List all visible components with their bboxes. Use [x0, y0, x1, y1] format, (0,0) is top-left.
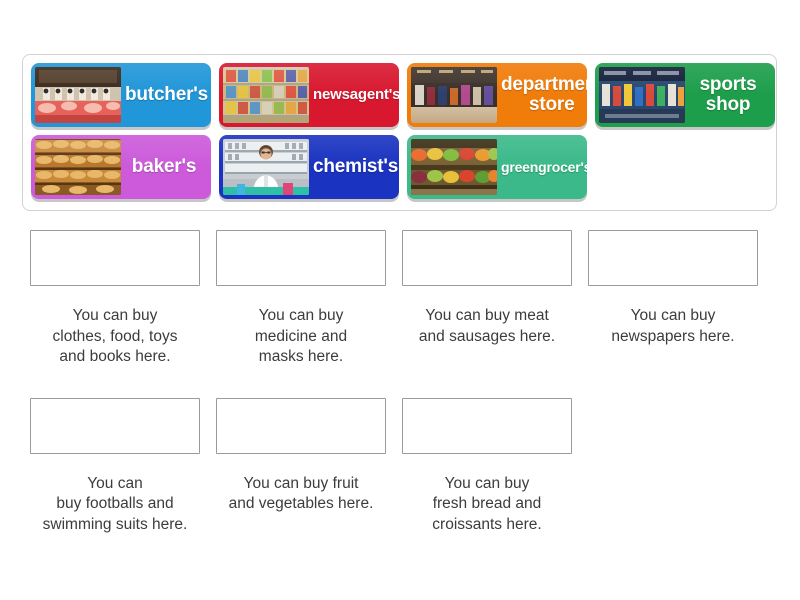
zone-caption: You can buy meat and sausages here. — [396, 306, 578, 347]
tile-label: chemist's — [309, 157, 399, 177]
zone-empty-slot — [580, 398, 766, 536]
draggable-tiles-panel: butcher's — [22, 54, 777, 211]
department-store-interior-photo — [411, 67, 497, 123]
drop-target[interactable] — [30, 398, 200, 454]
tiles-row-2: baker's — [31, 135, 776, 199]
zone-caption: You can buy clothes, food, toys and book… — [24, 306, 206, 368]
tile-bakers[interactable]: baker's — [31, 135, 211, 199]
newsagent-magazine-shelves-photo — [223, 67, 309, 123]
zone-row-2: You can buy footballs and swimming suits… — [22, 398, 778, 536]
zone-greengrocers: You can buy fruit and vegetables here. — [208, 398, 394, 536]
tile-label: baker's — [121, 157, 207, 177]
tile-newsagents[interactable]: newsagent's — [219, 63, 399, 127]
bakery-bread-shelves-photo — [35, 139, 121, 195]
tile-sports-shop[interactable]: sports shop — [595, 63, 775, 127]
drop-target[interactable] — [402, 230, 572, 286]
greengrocer-fruit-vegetable-stall-photo — [411, 139, 497, 195]
zone-caption: You can buy medicine and masks here. — [210, 306, 392, 368]
tile-department-store[interactable]: department store — [407, 63, 587, 127]
zone-caption: You can buy fresh bread and croissants h… — [396, 474, 578, 536]
pharmacist-in-chemist-shop-photo — [223, 139, 309, 195]
zone-caption: You can buy fruit and vegetables here. — [210, 474, 392, 515]
zone-row-1: You can buy clothes, food, toys and book… — [22, 230, 778, 368]
drop-target[interactable] — [30, 230, 200, 286]
zone-caption: You can buy newspapers here. — [582, 306, 764, 347]
tile-greengrocers[interactable]: greengrocer's — [407, 135, 587, 199]
zone-department-store: You can buy clothes, food, toys and book… — [22, 230, 208, 368]
drop-target[interactable] — [588, 230, 758, 286]
tile-label: newsagent's — [309, 87, 399, 103]
zone-sports-shop: You can buy footballs and swimming suits… — [22, 398, 208, 536]
tile-label: greengrocer's — [497, 160, 587, 175]
zone-caption: You can buy footballs and swimming suits… — [24, 474, 206, 536]
answer-zones: You can buy clothes, food, toys and book… — [22, 230, 778, 536]
tiles-row-1: butcher's — [31, 63, 776, 127]
zone-newsagents: You can buy newspapers here. — [580, 230, 766, 368]
zone-butchers: You can buy meat and sausages here. — [394, 230, 580, 368]
tile-label: sports shop — [685, 75, 771, 115]
tile-chemists[interactable]: chemist's — [219, 135, 399, 199]
drop-target[interactable] — [216, 398, 386, 454]
drop-target[interactable] — [402, 398, 572, 454]
zone-chemists: You can buy medicine and masks here. — [208, 230, 394, 368]
drop-target[interactable] — [216, 230, 386, 286]
tile-label: department store — [497, 75, 587, 115]
sports-shop-interior-photo — [599, 67, 685, 123]
tile-label: butcher's — [121, 85, 211, 105]
zone-bakers: You can buy fresh bread and croissants h… — [394, 398, 580, 536]
butcher-shop-counter-photo — [35, 67, 121, 123]
tile-butchers[interactable]: butcher's — [31, 63, 211, 127]
